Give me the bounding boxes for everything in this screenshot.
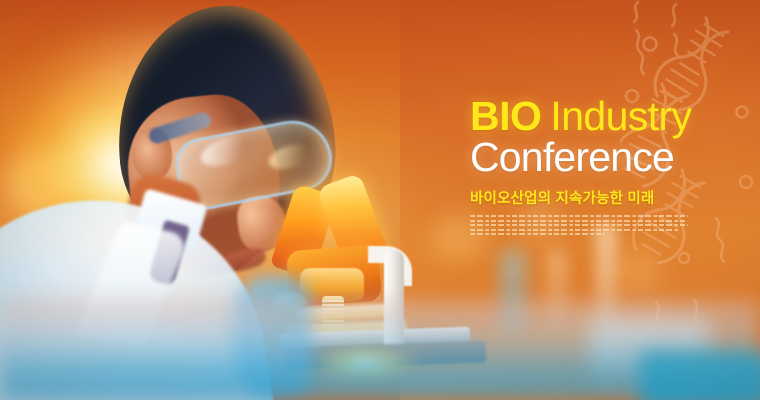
small-circle-icon	[644, 38, 657, 51]
headline-subtitle-korean: 바이오산업의 지속가능한 미래	[470, 187, 710, 208]
headline-text-block: BIO Industry Conference 바이오산업의 지속가능한 미래 …	[470, 96, 710, 238]
microcopy-line	[470, 233, 605, 235]
small-circle-icon	[740, 176, 752, 188]
foreground-cyan-block	[640, 352, 760, 400]
body-microcopy-block: Lorem ipsum dolor sit amet, consectetur …	[470, 215, 688, 235]
small-circle-icon	[737, 107, 748, 118]
squiggle-line-icon	[716, 218, 724, 262]
headline-word-conference: Conference	[470, 137, 710, 179]
small-circle-icon	[679, 253, 689, 263]
headline-word-industry: Industry	[550, 96, 691, 136]
headline-line-1: BIO Industry	[470, 96, 710, 136]
microcopy-line	[470, 215, 688, 217]
squiggle-line-icon	[672, 4, 678, 56]
headline-word-bio: BIO	[470, 96, 541, 136]
microcopy-line	[470, 220, 686, 222]
microcopy-line	[470, 229, 679, 231]
bio-industry-conference-banner: BIO Industry Conference 바이오산업의 지속가능한 미래 …	[0, 0, 760, 400]
microcopy-line	[470, 224, 688, 226]
squiggle-line-icon	[634, 2, 644, 74]
